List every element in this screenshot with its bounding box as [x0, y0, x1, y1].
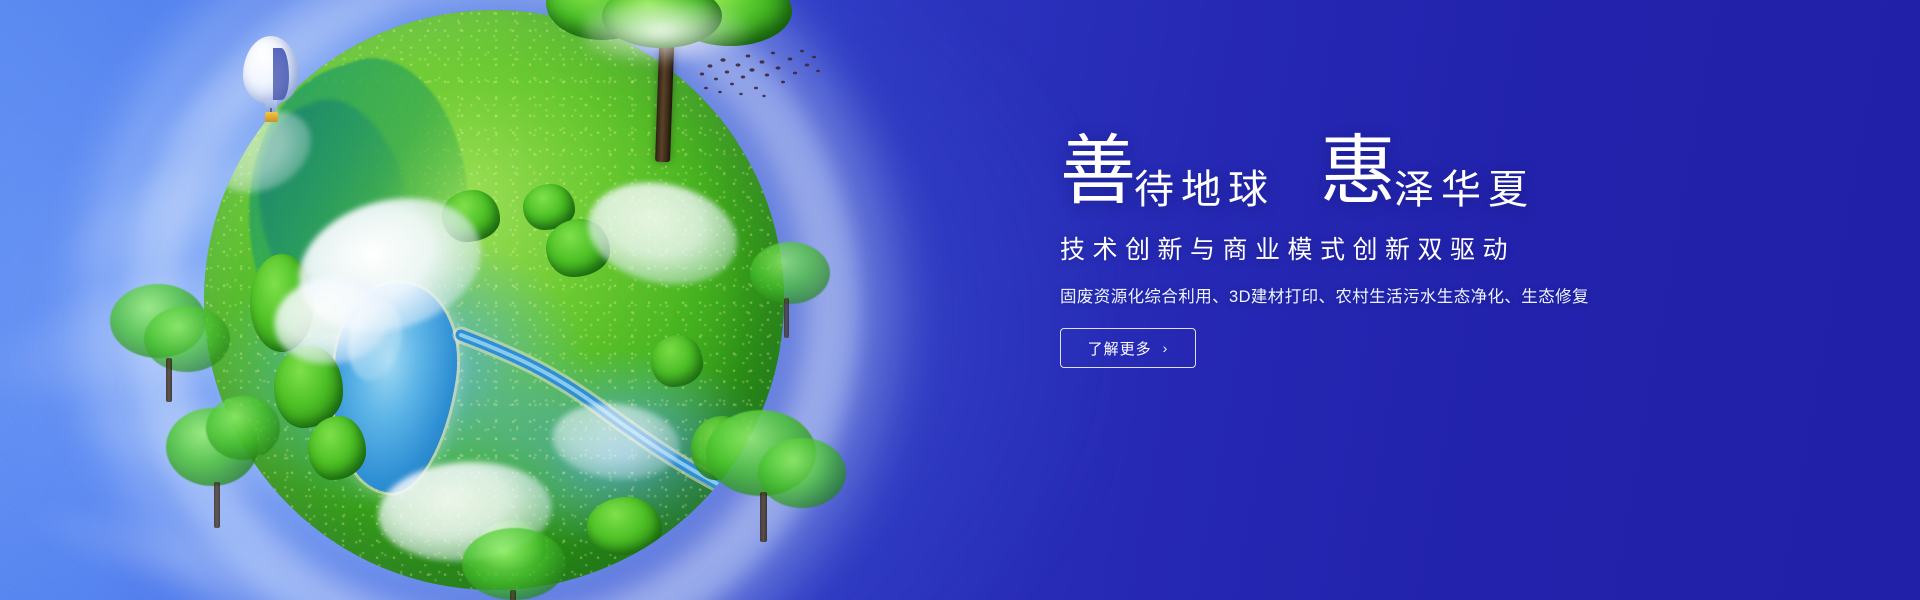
shrub-icon: [308, 416, 366, 480]
learn-more-button[interactable]: 了解更多 ›: [1060, 328, 1196, 368]
chevron-right-icon: ›: [1163, 341, 1169, 355]
headline-text-small-1: 待地球: [1134, 170, 1275, 210]
subtitle: 技术创新与商业模式创新双驱动: [1060, 230, 1620, 266]
hero-copy: 善 待地球 惠 泽华夏 技术创新与商业模式创新双驱动 固废资源化综合利用、3D建…: [1060, 128, 1620, 368]
shrub-icon: [651, 335, 703, 387]
bird-flock-icon: [694, 44, 822, 100]
balloon-basket: [265, 112, 278, 122]
hero-banner: 善 待地球 惠 泽华夏 技术创新与商业模式创新双驱动 固废资源化综合利用、3D建…: [0, 0, 1920, 600]
headline: 善 待地球 惠 泽华夏: [1060, 128, 1620, 224]
tree-icon: [688, 394, 858, 564]
tree-icon: [448, 524, 608, 600]
tree-icon: [158, 394, 298, 544]
balloon-envelope: [243, 36, 299, 104]
headline-text-small-2: 泽华夏: [1394, 170, 1535, 210]
description: 固废资源化综合利用、3D建材打印、农村生活污水生态净化、生态修复: [1060, 283, 1620, 307]
headline-char-big-2: 惠: [1320, 134, 1396, 210]
tree-icon: [744, 222, 864, 352]
hot-air-balloon-icon: [243, 36, 299, 132]
headline-char-big-1: 善: [1060, 134, 1136, 210]
balloon-stripe: [273, 48, 289, 100]
learn-more-label: 了解更多: [1088, 338, 1152, 359]
